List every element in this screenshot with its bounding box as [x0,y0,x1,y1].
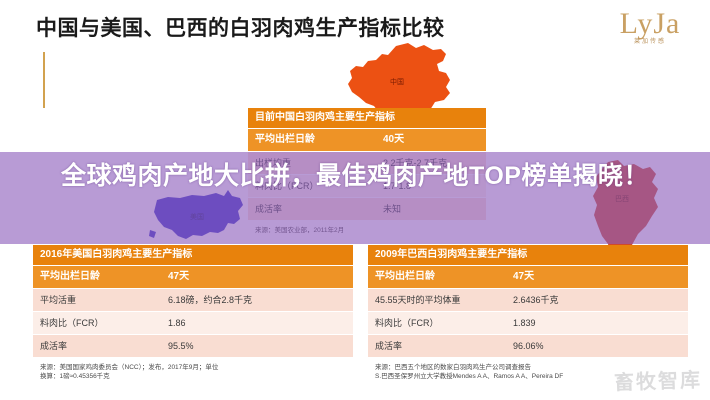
table-row: 成活率 95.5% [33,335,353,358]
table-cell-key: 平均出栏日龄 [368,266,506,288]
table-cell-key: 成活率 [248,198,376,220]
table-usa-source-note: 来源：美国国家鸡肉委员会（NCC）；发布，2017年9月；单位 换算：1磅≈0.… [33,358,353,381]
table-cell-value: 47天 [161,266,353,288]
map-usa: 美国 [148,186,248,248]
table-usa-metrics: 2016年美国白羽肉鸡主要生产指标 平均出栏日龄 47天 平均活重 6.18磅，… [33,245,353,381]
table-cell-value: 2.6436千克 [506,289,688,311]
page-title: 中国与美国、巴西的白羽肉鸡生产指标比较 [36,12,445,42]
table-cell-value: 95.5% [161,335,353,357]
slide-canvas: 中国与美国、巴西的白羽肉鸡生产指标比较 LyJa 莱加传感 中国 美国 巴西 目… [0,0,710,400]
table-row: 成活率 未知 [248,198,486,221]
map-label-usa: 美国 [190,212,204,222]
brand-logo: LyJa 莱加传感 [602,8,698,54]
table-cell-key: 料肉比（FCR） [33,312,161,334]
table-row: 料肉比（FCR） 1.839 [368,312,688,335]
map-label-brazil: 巴西 [615,194,629,204]
map-label-china: 中国 [390,77,404,87]
table-row: 45.55天时的平均体重 2.6436千克 [368,289,688,312]
table-row: 平均出栏日龄 47天 [33,266,353,289]
table-cell-value: 1.839 [506,312,688,334]
table-row: 料肉比（FCR） 1.86 [33,312,353,335]
table-cell-key: 45.55天时的平均体重 [368,289,506,311]
table-row: 平均出栏日龄 47天 [368,266,688,289]
table-cell-key: 料肉比（FCR） [368,312,506,334]
table-brazil-metrics: 2009年巴西白羽肉鸡主要生产指标 平均出栏日龄 47天 45.55天时的平均体… [368,245,688,381]
brand-logo-text: LyJa [602,8,698,40]
table-cell-key: 平均活重 [33,289,161,311]
accent-divider [43,52,45,108]
table-china-source-note: 来源：美国农业部，2011年2月 [248,221,486,235]
table-row: 成活率 96.06% [368,335,688,358]
table-cell-value: 6.18磅，约合2.8千克 [161,289,353,311]
brand-logo-subtext: 莱加传感 [602,38,698,46]
table-row: 平均活重 6.18磅，约合2.8千克 [33,289,353,312]
table-cell-key: 成活率 [368,335,506,357]
table-brazil-source-note: 来源：巴西五个地区的数家白羽肉鸡生产公司调查报告 S.巴西圣保罗州立大学教授Me… [368,358,688,381]
table-cell-value: 47天 [506,266,688,288]
table-cell-key: 成活率 [33,335,161,357]
table-usa-title: 2016年美国白羽肉鸡主要生产指标 [33,245,353,266]
table-cell-key: 平均出栏日龄 [248,129,376,151]
table-cell-value: 未知 [376,198,486,220]
table-cell-value: 1.86 [161,312,353,334]
table-china-title: 目前中国白羽肉鸡主要生产指标 [248,108,486,129]
table-cell-key: 平均出栏日龄 [33,266,161,288]
overlay-headline: 全球鸡肉产地大比拼，最佳鸡肉产地TOP榜单揭晓！ [0,160,710,193]
table-cell-value: 96.06% [506,335,688,357]
table-cell-value: 40天 [376,129,486,151]
table-row: 平均出栏日龄 40天 [248,129,486,152]
table-brazil-title: 2009年巴西白羽肉鸡主要生产指标 [368,245,688,266]
